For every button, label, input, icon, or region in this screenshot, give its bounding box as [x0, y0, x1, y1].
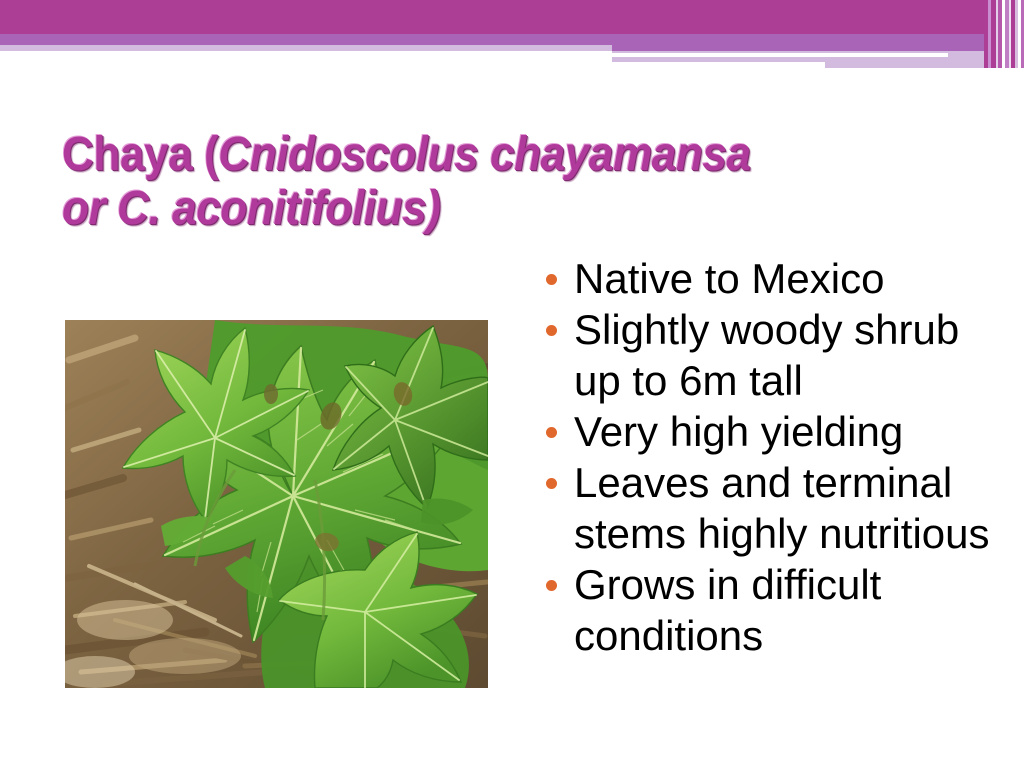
- bullet-text: Very high yielding: [574, 406, 1012, 457]
- bullet-list: Native to Mexico Slightly woody shrub up…: [542, 253, 1012, 661]
- title-line-1: Chaya (Cnidoscolus chayamansa: [62, 128, 872, 182]
- bullet-text: Native to Mexico: [574, 253, 1012, 304]
- list-item: Native to Mexico: [542, 253, 1012, 304]
- bullet-text: Leaves and terminal stems highly nutriti…: [574, 457, 1012, 559]
- list-item: Slightly woody shrub up to 6m tall: [542, 304, 1012, 406]
- bullet-dot-icon: [546, 478, 557, 489]
- title-common-name: Chaya (: [62, 128, 218, 181]
- header-vertical-stripes: [984, 0, 1024, 68]
- header-hairline-lower: [612, 62, 825, 68]
- header-band-purple-right: [612, 34, 1024, 51]
- header-white-notch: [0, 51, 612, 72]
- slide-header-decoration: [0, 0, 1024, 72]
- header-band-magenta: [0, 0, 1024, 34]
- list-item: Grows in difficult conditions: [542, 559, 1012, 661]
- presentation-slide: Chaya (Cnidoscolus chayamansa or C. acon…: [0, 0, 1024, 768]
- bullet-text: Grows in difficult conditions: [574, 559, 1012, 661]
- bullet-dot-icon: [546, 427, 557, 438]
- title-line-2: or C. aconitifolius): [62, 182, 872, 236]
- header-hairline-upper: [612, 53, 948, 57]
- list-item: Leaves and terminal stems highly nutriti…: [542, 457, 1012, 559]
- chaya-plant-photo: [65, 320, 488, 688]
- bullet-dot-icon: [546, 325, 557, 336]
- bullet-dot-icon: [546, 274, 557, 285]
- list-item: Very high yielding: [542, 406, 1012, 457]
- bullet-dot-icon: [546, 580, 557, 591]
- title-scientific-name: Cnidoscolus chayamansa: [218, 128, 750, 181]
- plant-photo-illustration: [65, 320, 488, 688]
- bullet-text: Slightly woody shrub up to 6m tall: [574, 304, 1012, 406]
- slide-title: Chaya (Cnidoscolus chayamansa or C. acon…: [62, 128, 872, 236]
